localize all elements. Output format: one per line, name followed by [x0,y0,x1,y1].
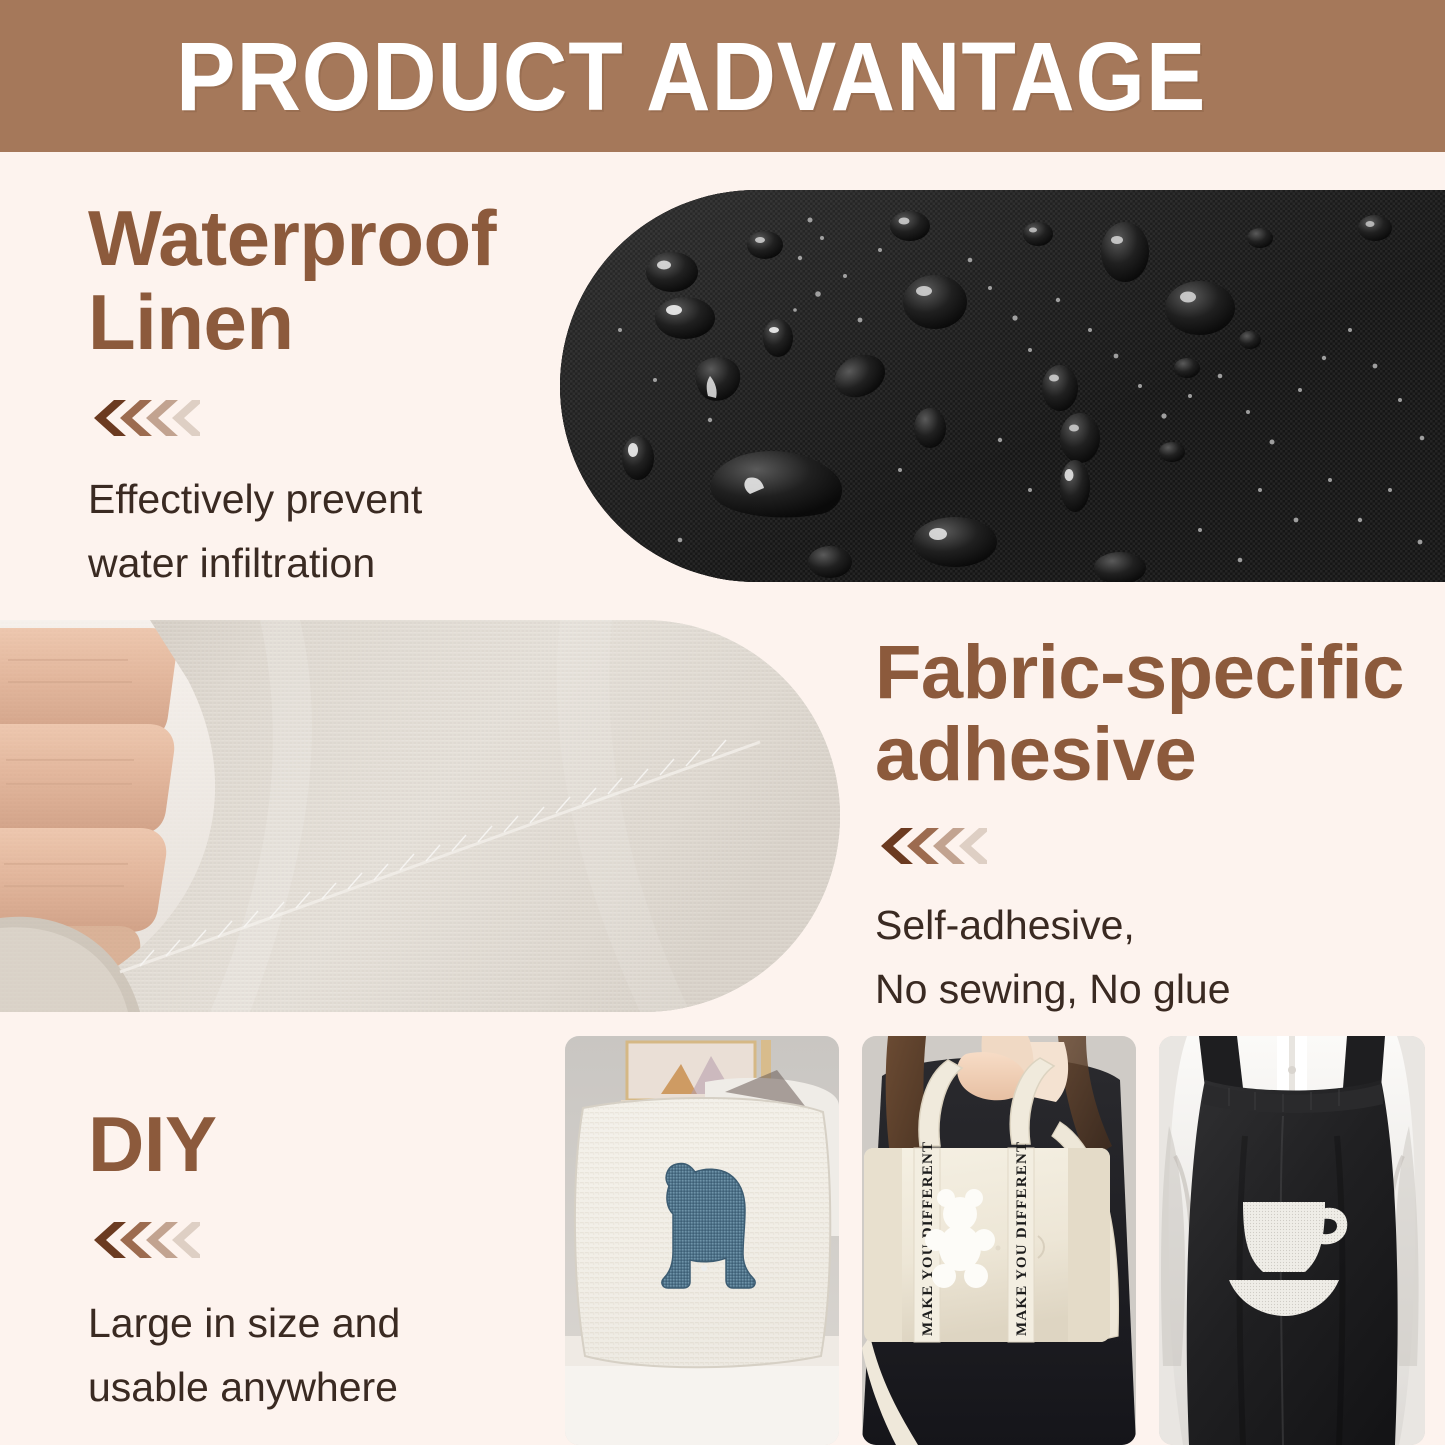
product-advantage-infographic: PRODUCT ADVANTAGE [0,0,1445,1445]
feature-diy: DIY Large in size and usable anywhere [88,1102,518,1419]
pillow-photo [565,1036,839,1445]
chevrons-left-icon [88,1220,518,1260]
feature-waterproof: Waterproof Linen Effectively prevent wat… [88,196,558,596]
apron-photo [1159,1036,1425,1445]
page-title: PRODUCT ADVANTAGE [176,28,1206,125]
tote-bag-photo: MAKE YOU DIFFERENT MAKE YOU DIFFERENT [862,1036,1136,1445]
tote-strap-text-right: MAKE YOU DIFFERENT [1014,1141,1030,1336]
waterproof-fabric-photo [560,190,1445,582]
feature-description: Self-adhesive, No sewing, No glue [875,894,1415,1021]
feature-title: Waterproof Linen [88,196,558,364]
chevrons-left-icon [88,398,558,438]
feature-adhesive: Fabric-specific adhesive Self-adhesive, … [875,632,1415,1021]
feature-description: Effectively prevent water infiltration [88,468,558,595]
linen-fabric-photo [0,620,840,1012]
header-banner: PRODUCT ADVANTAGE [0,0,1445,152]
feature-title: DIY [88,1102,518,1186]
chevrons-left-icon [875,826,1415,866]
feature-description: Large in size and usable anywhere [88,1292,518,1419]
feature-title: Fabric-specific adhesive [875,632,1415,796]
